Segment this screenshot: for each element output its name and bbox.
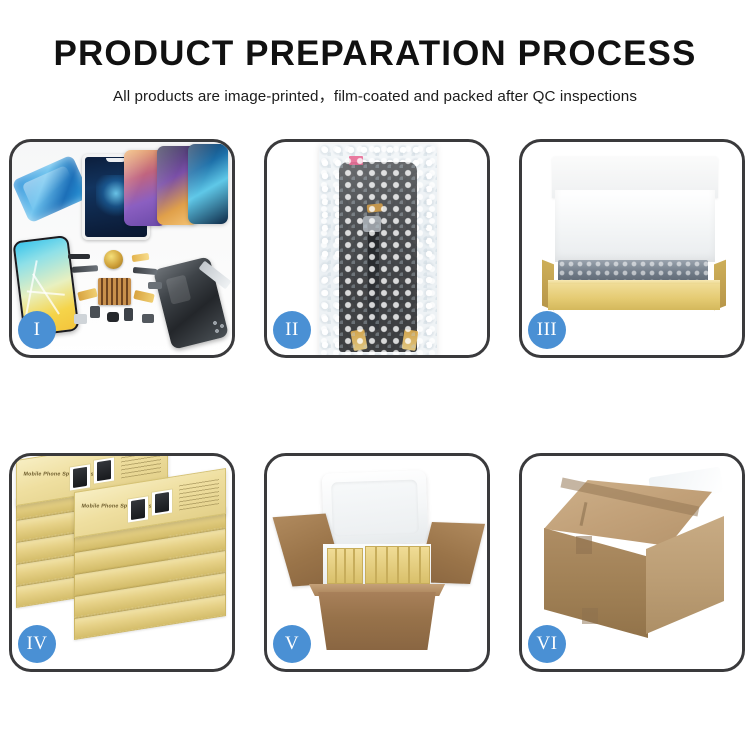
packed-yellow-box bbox=[376, 546, 387, 584]
step-badge-2: II bbox=[273, 311, 311, 349]
box-window-screen bbox=[97, 460, 111, 481]
small-part-icon bbox=[90, 306, 100, 318]
header: PRODUCT PREPARATION PROCESS All products… bbox=[0, 0, 750, 106]
process-step-panel-6: VI bbox=[519, 453, 745, 672]
small-part-icon bbox=[142, 314, 154, 323]
screen-flex-cable-icon bbox=[368, 222, 379, 330]
chip-array-icon bbox=[98, 278, 131, 305]
packed-yellow-box bbox=[387, 546, 398, 584]
screws-icon bbox=[212, 320, 226, 334]
packed-yellow-box bbox=[354, 548, 363, 584]
packed-yellow-box bbox=[345, 548, 354, 584]
small-part-icon bbox=[68, 254, 90, 259]
box-window-icon bbox=[93, 456, 115, 484]
carton-front-icon bbox=[307, 592, 447, 650]
flex-cable-icon bbox=[133, 267, 157, 275]
box-window-icon bbox=[127, 495, 149, 523]
gold-connector-icon bbox=[77, 288, 98, 301]
process-step-panel-3: III bbox=[519, 139, 745, 358]
gold-contact-tab-icon bbox=[367, 203, 384, 213]
packed-yellow-box bbox=[327, 548, 336, 584]
product-preparation-infographic: PRODUCT PREPARATION PROCESS All products… bbox=[0, 0, 750, 750]
process-step-panel-5: V bbox=[264, 453, 490, 672]
box-window-screen bbox=[73, 467, 87, 488]
crack-line bbox=[25, 260, 38, 317]
step-badge-4: IV bbox=[18, 625, 56, 663]
carton-tab-icon bbox=[582, 608, 598, 624]
screen-connector-icon bbox=[363, 216, 381, 232]
step-badge-5: V bbox=[273, 625, 311, 663]
packed-yellow-box bbox=[420, 546, 430, 584]
box-window-icon bbox=[151, 488, 173, 516]
box-window-screen bbox=[131, 499, 145, 520]
screen-glare bbox=[188, 144, 228, 224]
box-spec-text-lines bbox=[179, 478, 219, 510]
small-part-icon bbox=[74, 314, 87, 324]
box-window-icon bbox=[69, 463, 91, 491]
phone-notch-icon bbox=[106, 158, 126, 162]
small-part-icon bbox=[107, 312, 119, 322]
process-step-panel-1: I bbox=[9, 139, 235, 358]
box-spec-text-lines bbox=[121, 456, 161, 478]
process-step-panel-4: Mobile Phone Spare Parts Mobile Phone Sp… bbox=[9, 453, 235, 672]
carton-tab-icon bbox=[576, 536, 592, 554]
flex-cable-icon bbox=[72, 265, 98, 273]
step-badge-6: VI bbox=[528, 625, 566, 663]
packed-yellow-box bbox=[336, 548, 345, 584]
page-title: PRODUCT PREPARATION PROCESS bbox=[0, 0, 750, 73]
gold-contact-tab-icon bbox=[132, 253, 150, 262]
small-part-icon bbox=[148, 282, 162, 289]
step-badge-1: I bbox=[18, 311, 56, 349]
page-subtitle: All products are image-printed，film-coat… bbox=[0, 73, 750, 106]
box-tray-front-icon bbox=[548, 284, 720, 310]
pink-qc-label-icon bbox=[349, 156, 363, 165]
packed-yellow-box bbox=[409, 546, 420, 584]
foam-padding-icon bbox=[555, 190, 715, 262]
process-step-panel-2: II bbox=[264, 139, 490, 358]
process-step-grid: I II bbox=[9, 139, 745, 672]
blue-protective-film-icon bbox=[12, 155, 91, 224]
foam-lid-icon bbox=[322, 470, 428, 546]
small-part-icon bbox=[124, 308, 133, 321]
vibration-motor-icon bbox=[104, 250, 123, 269]
gold-connector-icon bbox=[133, 290, 155, 303]
bubble-wrap-bag-icon bbox=[319, 144, 437, 355]
box-window-screen bbox=[155, 492, 169, 513]
phone-device-icon-4 bbox=[188, 144, 228, 224]
packed-yellow-box bbox=[365, 546, 376, 584]
packed-yellow-box bbox=[398, 546, 409, 584]
step-badge-3: III bbox=[528, 311, 566, 349]
